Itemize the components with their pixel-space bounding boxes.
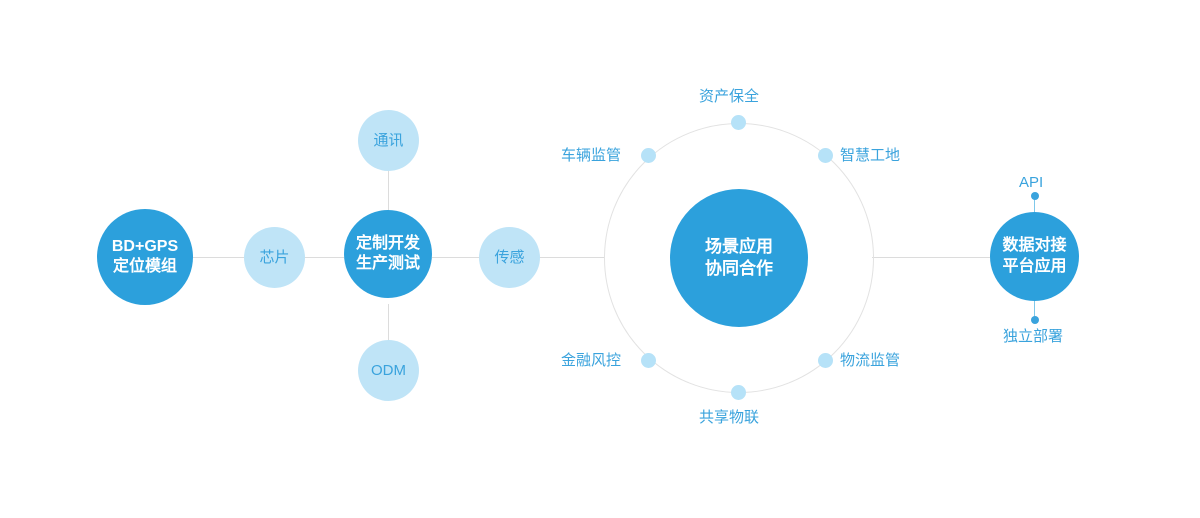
connector-develop-to-sensor xyxy=(432,257,482,258)
capability-chain-diagram: BD+GPS 定位模组 芯片 通讯 定制开发 生产测试 ODM 传感 场景应用 … xyxy=(0,0,1200,518)
node-communication-label: 通讯 xyxy=(373,131,403,150)
connector-module-to-chip xyxy=(190,257,244,258)
orbit-label-logistics-supervision[interactable]: 物流监管 xyxy=(840,353,900,368)
node-odm[interactable]: ODM xyxy=(358,340,419,401)
orbit-dot-asset-security[interactable] xyxy=(731,115,746,130)
node-scene-application[interactable]: 场景应用 协同合作 xyxy=(670,189,808,327)
connector-develop-to-odm xyxy=(388,304,389,340)
orbit-label-asset-security[interactable]: 资产保全 xyxy=(699,89,759,104)
platform-cap-dot-standalone-deploy[interactable] xyxy=(1031,316,1039,324)
node-custom-development-label: 定制开发 生产测试 xyxy=(356,234,420,275)
platform-cap-label-api[interactable]: API xyxy=(1019,175,1043,190)
orbit-label-financial-risk[interactable]: 金融风控 xyxy=(561,353,621,368)
node-chip[interactable]: 芯片 xyxy=(244,227,305,288)
connector-sensor-to-orbit xyxy=(539,257,605,258)
orbit-label-vehicle-supervision[interactable]: 车辆监管 xyxy=(561,148,621,163)
node-positioning-module-label: BD+GPS 定位模组 xyxy=(112,237,178,278)
node-odm-label: ODM xyxy=(371,361,406,380)
orbit-dot-financial-risk[interactable] xyxy=(641,353,656,368)
node-positioning-module[interactable]: BD+GPS 定位模组 xyxy=(97,209,193,305)
node-communication[interactable]: 通讯 xyxy=(358,110,419,171)
node-custom-development[interactable]: 定制开发 生产测试 xyxy=(344,210,432,298)
connector-orbit-to-platform xyxy=(872,257,990,258)
orbit-label-smart-site[interactable]: 智慧工地 xyxy=(840,148,900,163)
node-sensor[interactable]: 传感 xyxy=(479,227,540,288)
node-platform-application-label: 数据对接 平台应用 xyxy=(1002,236,1066,277)
node-chip-label: 芯片 xyxy=(259,248,289,267)
platform-cap-dot-api[interactable] xyxy=(1031,192,1039,200)
orbit-dot-vehicle-supervision[interactable] xyxy=(641,148,656,163)
connector-chip-to-develop xyxy=(304,257,344,258)
orbit-dot-shared-iot[interactable] xyxy=(731,385,746,400)
node-sensor-label: 传感 xyxy=(494,248,524,267)
node-scene-application-label: 场景应用 协同合作 xyxy=(705,236,773,280)
orbit-label-shared-iot[interactable]: 共享物联 xyxy=(699,410,759,425)
orbit-dot-logistics-supervision[interactable] xyxy=(818,353,833,368)
orbit-dot-smart-site[interactable] xyxy=(818,148,833,163)
platform-cap-label-standalone-deploy[interactable]: 独立部署 xyxy=(1003,329,1063,344)
node-platform-application[interactable]: 数据对接 平台应用 xyxy=(990,212,1079,301)
connector-develop-to-comm xyxy=(388,170,389,210)
